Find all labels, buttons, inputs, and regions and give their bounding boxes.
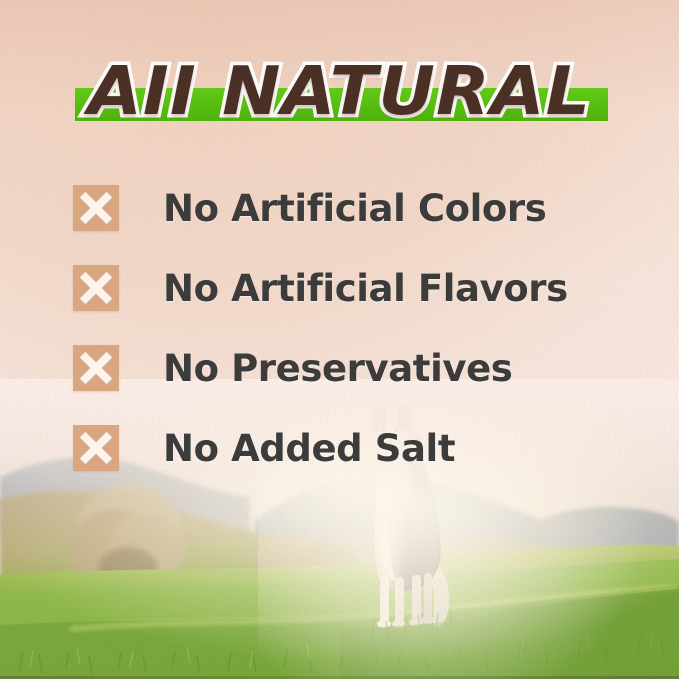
- claim-label: No Artificial Colors: [163, 190, 546, 227]
- headline-text: AII NATURAL: [0, 48, 679, 134]
- all-natural-banner: AII NATURAL No Artificial Colors No Arti…: [0, 0, 679, 679]
- headline: AII NATURAL: [0, 48, 679, 140]
- cross-x-icon: [73, 425, 119, 471]
- claims-list: No Artificial Colors No Artificial Flavo…: [0, 168, 679, 488]
- cross-x-icon: [73, 265, 119, 311]
- list-item: No Artificial Flavors: [0, 248, 679, 328]
- cross-x-icon: [73, 345, 119, 391]
- claim-label: No Preservatives: [163, 350, 512, 387]
- list-item: No Artificial Colors: [0, 168, 679, 248]
- list-item: No Added Salt: [0, 408, 679, 488]
- list-item: No Preservatives: [0, 328, 679, 408]
- claim-label: No Added Salt: [163, 430, 455, 467]
- cross-x-icon: [73, 185, 119, 231]
- claim-label: No Artificial Flavors: [163, 270, 568, 307]
